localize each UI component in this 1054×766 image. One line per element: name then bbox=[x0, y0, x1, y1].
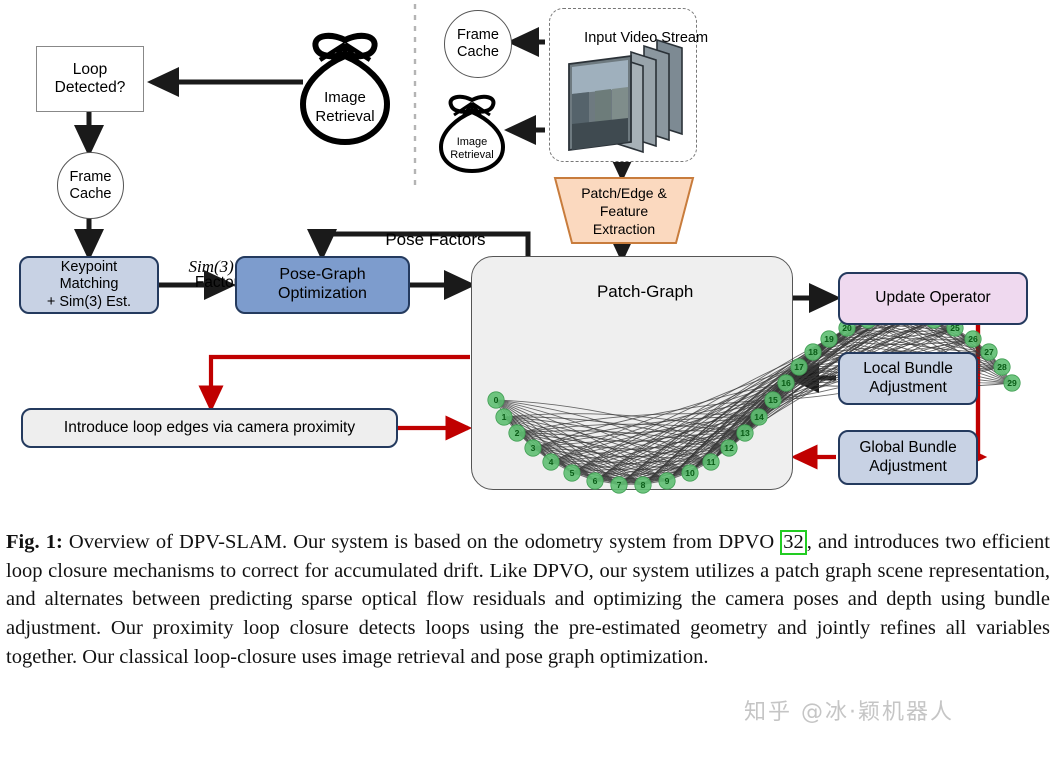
extraction-line1: Patch/Edge & bbox=[581, 185, 667, 201]
sim3-factor-rest: Factor bbox=[169, 256, 239, 310]
patch-graph-node-label: 13 bbox=[740, 428, 750, 438]
patch-graph-node-label: 2 bbox=[515, 428, 520, 438]
caption-prefix: Fig. 1: bbox=[6, 531, 63, 553]
introduce-loop-edges-label: Introduce loop edges via camera proximit… bbox=[64, 419, 355, 437]
patch-graph-node-label: 9 bbox=[665, 476, 670, 486]
patch-graph-node-label: 3 bbox=[531, 443, 536, 453]
update-operator-box[interactable]: Update Operator bbox=[838, 272, 1028, 325]
patch-graph-node-label: 0 bbox=[494, 395, 499, 405]
image-retrieval-bag-small: Image Retrieval bbox=[437, 92, 517, 172]
extraction-line3: Extraction bbox=[593, 221, 655, 237]
pose-graph-optimization-label: Pose-Graph Optimization bbox=[278, 266, 367, 304]
pose-factors-label: Pose Factors bbox=[357, 210, 486, 270]
patch-graph-node-label: 18 bbox=[808, 347, 818, 357]
patch-graph-node-label: 12 bbox=[724, 443, 734, 453]
local-bundle-adjustment-box[interactable]: Local Bundle Adjustment bbox=[838, 352, 978, 405]
watermark: 知乎 @冰·颖机器人 bbox=[744, 694, 954, 726]
image-retrieval-big-line1: Image bbox=[324, 89, 366, 106]
update-operator-label: Update Operator bbox=[875, 289, 990, 307]
patch-graph-node-label: 27 bbox=[984, 347, 994, 357]
global-bundle-adjustment-label: Global Bundle Adjustment bbox=[859, 439, 956, 476]
patch-graph-node-label: 8 bbox=[641, 480, 646, 490]
frame-cache-left-circle[interactable]: Frame Cache bbox=[57, 152, 124, 219]
global-bundle-adjustment-box[interactable]: Global Bundle Adjustment bbox=[838, 430, 978, 485]
figure-caption: Fig. 1: Overview of DPV-SLAM. Our system… bbox=[6, 528, 1050, 671]
patch-graph-node-label: 17 bbox=[794, 362, 804, 372]
patch-graph-node-label: 1 bbox=[502, 412, 507, 422]
keypoint-matching-label: Keypoint Matching + Sim(3) Est. bbox=[47, 259, 131, 310]
patch-graph-node-label: 15 bbox=[768, 395, 778, 405]
loop-detected-box[interactable]: Loop Detected? bbox=[36, 46, 144, 112]
citation-link[interactable]: 32 bbox=[780, 530, 807, 555]
image-retrieval-small-line2: Retrieval bbox=[450, 149, 493, 161]
patch-graph-node-label: 11 bbox=[706, 457, 715, 467]
introduce-loop-edges-box[interactable]: Introduce loop edges via camera proximit… bbox=[21, 408, 398, 448]
patch-graph-node-label: 29 bbox=[1007, 378, 1017, 388]
patch-graph-node-label: 14 bbox=[754, 412, 764, 422]
frame-cache-small-label: Frame Cache bbox=[457, 27, 499, 60]
patch-graph-node-label: 5 bbox=[570, 468, 575, 478]
patch-graph-node-label: 7 bbox=[617, 480, 622, 490]
frame-cache-left-label: Frame Cache bbox=[70, 169, 112, 202]
image-retrieval-small-line1: Image bbox=[457, 136, 488, 148]
diagram-canvas: Loop Detected? Image Retrieval Frame Cac… bbox=[0, 0, 1054, 520]
patch-graph-node-label: 26 bbox=[968, 334, 978, 344]
patch-graph-node-label: 19 bbox=[824, 334, 834, 344]
arrow-patchgraph-to-introduce bbox=[211, 357, 470, 408]
caption-part1: Overview of DPV-SLAM. Our system is base… bbox=[63, 531, 780, 553]
patch-edge-extraction-shape[interactable]: Patch/Edge & Feature Extraction bbox=[553, 176, 695, 246]
loop-detected-label: Loop Detected? bbox=[55, 61, 126, 98]
video-frame-stack-icon bbox=[549, 34, 695, 154]
extraction-line2: Feature bbox=[600, 203, 648, 219]
local-bundle-adjustment-label: Local Bundle Adjustment bbox=[863, 360, 953, 397]
image-retrieval-big-line2: Retrieval bbox=[315, 108, 374, 125]
patch-graph-node-label: 6 bbox=[593, 476, 598, 486]
patch-graph-node-label: 28 bbox=[997, 362, 1007, 372]
figure-page: Loop Detected? Image Retrieval Frame Cac… bbox=[0, 0, 1054, 766]
patch-graph-node-label: 16 bbox=[781, 378, 791, 388]
patch-graph-node-label: 4 bbox=[549, 457, 554, 467]
image-retrieval-bag-big: Image Retrieval bbox=[298, 30, 408, 150]
frame-cache-small-circle[interactable]: Frame Cache bbox=[444, 10, 512, 78]
patch-graph-plot: 0123456789101112131415161718192021222324… bbox=[479, 282, 799, 492]
keypoint-matching-box[interactable]: Keypoint Matching + Sim(3) Est. bbox=[19, 256, 159, 314]
patch-graph-node-label: 10 bbox=[685, 468, 695, 478]
